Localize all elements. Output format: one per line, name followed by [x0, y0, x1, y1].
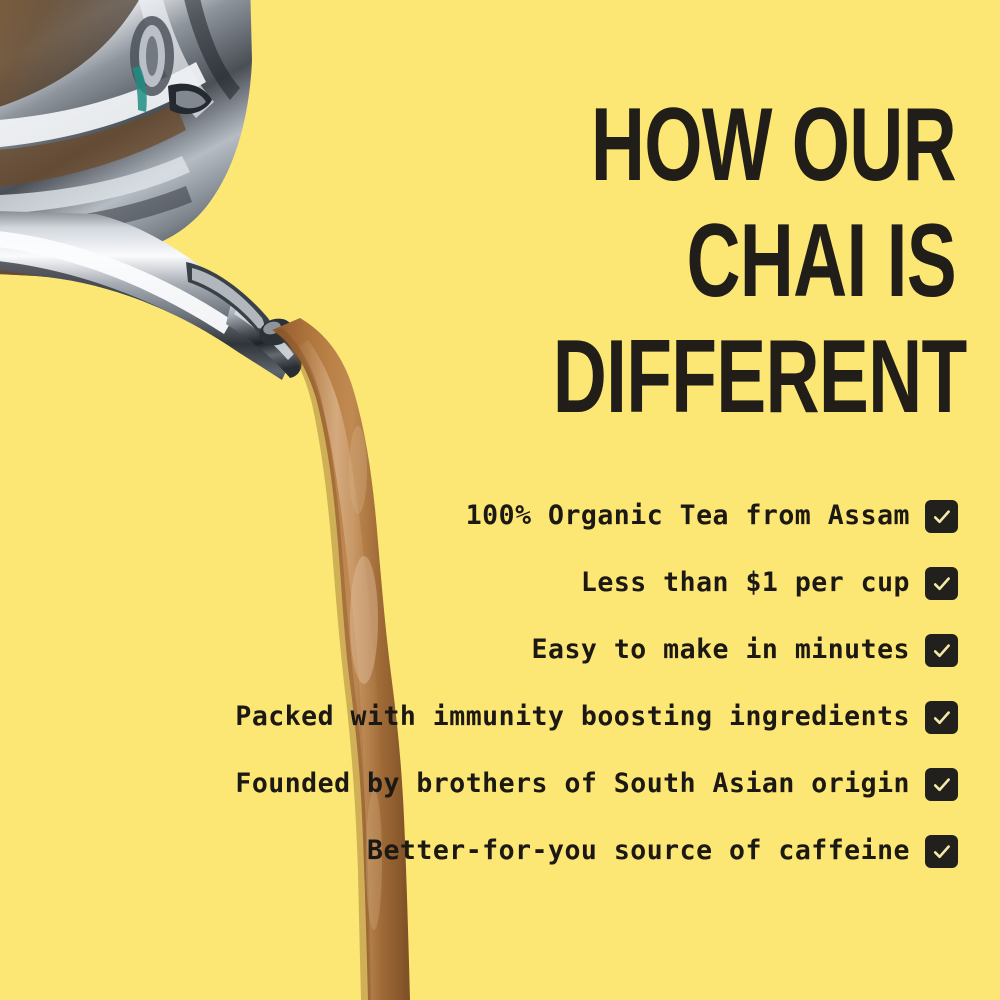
headline-line-1: HOW OUR [553, 96, 956, 196]
feature-checklist: 100% Organic Tea from AssamLess than $1 … [58, 500, 958, 868]
kettle-arm [0, 200, 320, 400]
kettle-body [0, 0, 300, 280]
feature-row: 100% Organic Tea from Assam [466, 500, 958, 533]
feature-row: Less than $1 per cup [581, 567, 958, 600]
checkmark-icon[interactable] [925, 768, 958, 801]
page-title: HOW OUR CHAI IS DIFFERENT [396, 96, 956, 427]
checkmark-icon[interactable] [925, 634, 958, 667]
checkmark-icon[interactable] [925, 567, 958, 600]
checkmark-icon[interactable] [925, 835, 958, 868]
kettle-spout [186, 262, 302, 378]
feature-label: Founded by brothers of South Asian origi… [235, 771, 910, 798]
feature-row: Easy to make in minutes [532, 634, 958, 667]
feature-label: Easy to make in minutes [532, 637, 910, 664]
feature-row: Founded by brothers of South Asian origi… [235, 768, 958, 801]
checkmark-icon[interactable] [925, 701, 958, 734]
headline-line-2: CHAI IS [553, 212, 956, 312]
checkmark-icon[interactable] [925, 500, 958, 533]
feature-label: Better-for-you source of caffeine [367, 838, 910, 865]
headline-line-3: DIFFERENT [553, 328, 956, 428]
feature-label: Packed with immunity boosting ingredient… [235, 704, 910, 731]
poster-canvas: HOW OUR CHAI IS DIFFERENT 100% Organic T… [0, 0, 1000, 1000]
feature-row: Better-for-you source of caffeine [367, 835, 958, 868]
feature-row: Packed with immunity boosting ingredient… [235, 701, 958, 734]
feature-label: 100% Organic Tea from Assam [466, 503, 910, 530]
feature-label: Less than $1 per cup [581, 570, 910, 597]
